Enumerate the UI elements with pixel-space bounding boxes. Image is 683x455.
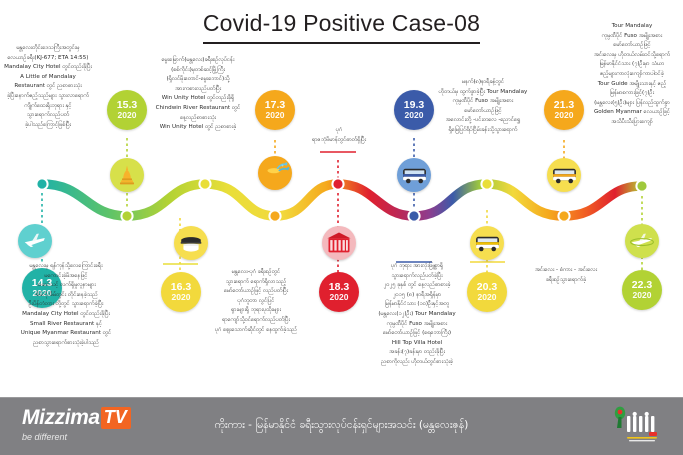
bus-orange-icon	[547, 158, 581, 192]
date-badge-year: 2020	[172, 293, 191, 302]
date-badge-17-3[interactable]: 17.3 2020	[255, 90, 295, 130]
date-badge-16-3[interactable]: 16.3 2020	[161, 272, 201, 312]
date-badge-22-3[interactable]: 22.3 2020	[622, 270, 662, 310]
date-badge-year: 2020	[118, 111, 137, 120]
date-badge-18-3[interactable]: 18.3 2020	[319, 272, 359, 312]
date-badge-year: 2020	[555, 111, 574, 120]
mizzima-burmese-logo[interactable]	[609, 404, 669, 448]
event-text-19-3: မနက်(၈)နာရီခန့်တွင် ဟိုတယ်မှ ထွက်ခွာခဲ့ပ…	[424, 78, 542, 136]
event-text-21-3: Tour Mandalay ကုမ္ပဏီပိုင် Fuso အမျိုးအစ…	[576, 22, 683, 128]
date-badge-year: 2020	[405, 111, 424, 120]
date-badge-year: 2020	[633, 291, 652, 300]
mask-face-icon	[174, 226, 208, 260]
bus-yellow-icon	[470, 226, 504, 260]
pagoda-icon	[110, 158, 144, 192]
airplane-green-icon	[625, 224, 659, 258]
bus-blue-icon	[397, 158, 431, 192]
thingyan-water-icon	[258, 156, 292, 190]
event-text-18-3: ပုဂံ ဘုရား အားလုံးဖြူစွာရှိ သွားရောက်လည်…	[355, 262, 479, 368]
source-caption: ကိုးကား - မြန်မာနိုင်ငံ ခရီးသွားလုပ်ငန်း…	[0, 397, 683, 455]
event-text-17-3: မွေးမြောက်(မန္တလေး)ခရီးစဉ်လုပ်ငန်း (စစ်က…	[138, 56, 258, 133]
event-text-20-3: အင်းလေး - စံကား - အင်းလေး ခရီးစဉ်သွားရော…	[512, 266, 620, 285]
date-badge-year: 2020	[266, 111, 285, 120]
date-badge-year: 2020	[330, 293, 349, 302]
infographic-canvas: Covid-19 Positive Case-08	[0, 0, 683, 455]
airplane-icon	[18, 224, 52, 258]
thingyan-pot-icon	[322, 226, 356, 260]
date-badge-year: 2020	[478, 293, 497, 302]
event-text-14-3: မန္တလေးမှ ရန်ကုန်သို့လေကြောင်းခရီး မကောင…	[10, 262, 122, 348]
event-text-15-3: မန္တလေးတိုင်းဒေသကြီးအတွင်းမှ လေယာဉ်ခရီး(…	[0, 44, 102, 130]
event-text-18-3-head: ပုဂံ ရာဇဘုံဗိမာန်တွင်ဓာတ်ရှိပြီး	[296, 126, 382, 145]
event-text-16-3: မန္တလေး-ပုဂံ ခရီးစဉ်တွင် သွားရောက် ရောက်…	[200, 268, 312, 335]
footer-bar: Mizzima TV be different ကိုးကား - မြန်မာ…	[0, 397, 683, 455]
